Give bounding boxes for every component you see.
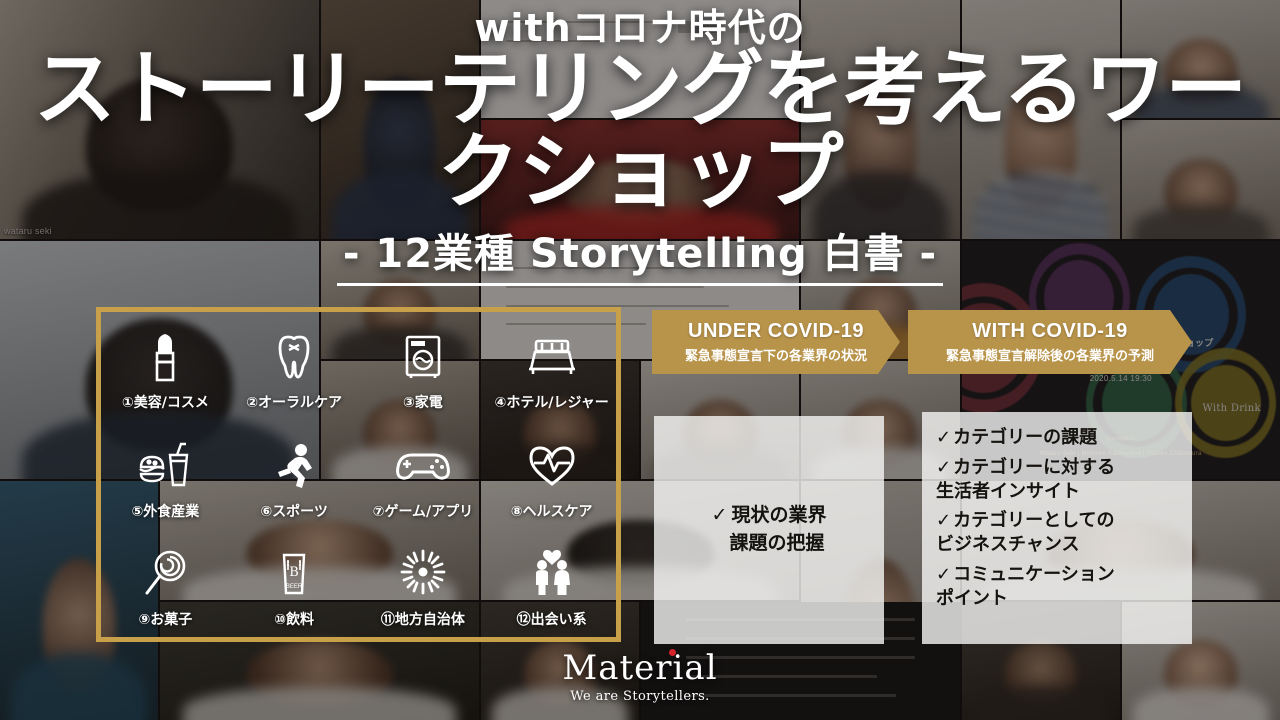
category-icon-panel: ①美容/コスメ ②オーラルケア [96,307,621,642]
category-item-12[interactable]: ⑫出会い系 [487,529,616,637]
category-item-3[interactable]: ③家電 [359,312,488,420]
beer-can-icon: B BEER [277,545,311,603]
running-person-icon [271,437,317,495]
banner-under-covid: UNDER COVID-19 緊急事態宣言下の各業界の状況 [652,310,900,374]
category-label: ⑩飲料 [274,609,314,629]
fireworks-icon [396,545,450,603]
category-item-6[interactable]: ⑥スポーツ [230,420,359,528]
category-item-10[interactable]: B BEER ⑩飲料 [230,529,359,637]
checklist-line1: カテゴリーに対する [953,457,1115,478]
phase-banner-group: UNDER COVID-19 緊急事態宣言下の各業界の状況 WITH COVID… [652,310,1192,374]
category-label: ③家電 [403,392,443,412]
category-item-8[interactable]: ⑧ヘルスケア [487,420,616,528]
check-icon: ✓ [936,457,951,478]
category-item-2[interactable]: ②オーラルケア [230,312,359,420]
check-icon: ✓ [712,504,728,526]
gamepad-icon [394,437,452,495]
category-label: ②オーラルケア [246,392,342,412]
brand-wordmark: Material [562,648,717,688]
checklist-line1: カテゴリーとしての [953,510,1114,531]
brand-tagline: We are Storytellers. [0,689,1280,704]
burger-drink-icon [137,437,193,495]
category-row: ⑤外食産業 ⑥スポーツ [101,420,616,528]
deliverables-box: ✓カテゴリーの課題 ✓カテゴリーに対する 生活者インサイト ✓カテゴリーとしての… [922,412,1192,644]
title-block: withコロナ時代の ストーリーテリングを考えるワークショップ - 12業種 S… [0,8,1280,286]
title-subtitle: - 12業種 Storytelling 白書 - [337,221,943,286]
svg-text:BEER: BEER [286,584,303,590]
brand-logo: Material We are Storytellers. [0,648,1280,704]
checklist-item: ✓カテゴリーの課題 [936,426,1180,450]
category-item-9[interactable]: ⑨お菓子 [101,529,230,637]
category-item-5[interactable]: ⑤外食産業 [101,420,230,528]
check-icon: ✓ [936,564,951,585]
lipstick-icon [148,328,182,386]
category-label: ①美容/コスメ [122,392,209,412]
banner-title: WITH COVID-19 [972,320,1127,343]
washing-machine-icon [402,328,444,386]
category-label: ⑤外食産業 [131,501,199,521]
category-label: ⑧ヘルスケア [511,501,593,521]
category-label: ⑪地方自治体 [381,609,465,629]
category-item-11[interactable]: ⑪地方自治体 [359,529,488,637]
category-label: ⑨お菓子 [138,609,192,629]
category-label: ④ホテル/レジャー [494,392,608,412]
current-issues-line2: 課題の把握 [712,532,825,554]
brand-name: Material [562,648,717,688]
checklist-line1: カテゴリーの課題 [953,427,1097,448]
check-icon: ✓ [936,427,951,448]
banner-title: UNDER COVID-19 [688,320,864,343]
banner-subtitle: 緊急事態宣言解除後の各業界の予測 [946,345,1154,364]
category-item-4[interactable]: ④ホテル/レジャー [487,312,616,420]
svg-text:B: B [289,565,299,580]
bed-icon [524,328,580,386]
checklist-item: ✓カテゴリーとしての ビジネスチャンス [936,509,1180,557]
checklist-line1: コミュニケーション [953,564,1115,585]
category-item-1[interactable]: ①美容/コスメ [101,312,230,420]
check-icon: ✓ [936,510,951,531]
category-label: ⑦ゲーム/アプリ [373,501,474,521]
page-title: ストーリーテリングを考えるワークショップ [0,48,1280,215]
checklist-line2: 生活者インサイト [936,480,1180,504]
category-row: ⑨お菓子 B BEER ⑩飲料 [101,529,616,637]
category-item-7[interactable]: ⑦ゲーム/アプリ [359,420,488,528]
tooth-icon [272,328,316,386]
couple-heart-icon [527,545,577,603]
category-label: ⑫出会い系 [517,609,587,629]
heart-pulse-icon [527,437,577,495]
checklist-line2: ポイント [936,587,1180,611]
current-issues-line1: 現状の業界 [731,504,826,526]
banner-subtitle: 緊急事態宣言下の各業界の状況 [685,345,867,364]
logo-dot-icon [669,649,676,656]
category-label: ⑥スポーツ [260,501,328,521]
checklist-item: ✓コミュニケーション ポイント [936,563,1180,611]
slide-canvas: wataru seki [0,0,1280,720]
current-issues-box: ✓現状の業界 課題の把握 [654,416,884,644]
checklist-item: ✓カテゴリーに対する 生活者インサイト [936,456,1180,504]
banner-with-covid: WITH COVID-19 緊急事態宣言解除後の各業界の予測 [908,310,1192,374]
lollipop-icon [140,545,190,603]
checklist-line2: ビジネスチャンス [936,533,1180,557]
category-row: ①美容/コスメ ②オーラルケア [101,312,616,420]
